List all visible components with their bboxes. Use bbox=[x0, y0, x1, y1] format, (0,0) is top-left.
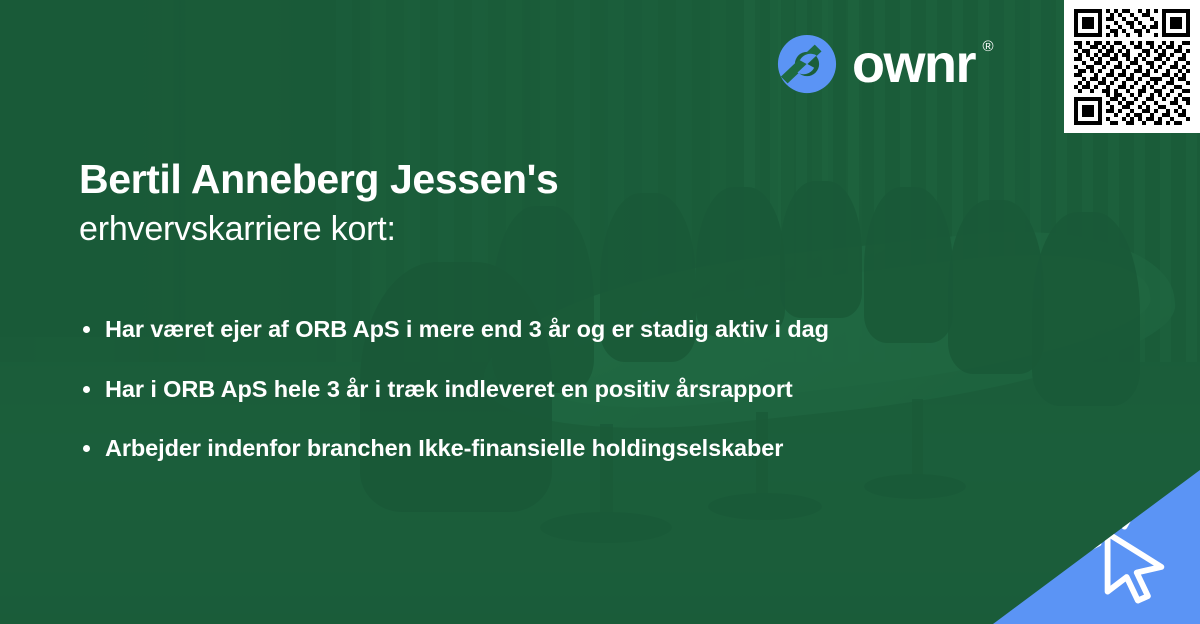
bullet-dot-icon bbox=[83, 445, 90, 452]
page-title: Bertil Anneberg Jessen's erhvervskarrier… bbox=[79, 155, 979, 251]
bullet-dot-icon bbox=[83, 326, 90, 333]
list-item-text: Har været ejer af ORB ApS i mere end 3 å… bbox=[105, 316, 829, 342]
list-item: Har været ejer af ORB ApS i mere end 3 å… bbox=[79, 312, 959, 348]
qr-code-graphic bbox=[1074, 9, 1190, 125]
career-highlights-list: Har været ejer af ORB ApS i mere end 3 å… bbox=[79, 312, 959, 467]
registered-trademark-symbol: ® bbox=[982, 39, 992, 54]
qr-code[interactable] bbox=[1064, 0, 1200, 133]
ownr-logo[interactable]: ownr ® bbox=[776, 33, 975, 95]
list-item: Arbejder indenfor branchen Ikke-finansie… bbox=[79, 431, 959, 467]
ownr-wordmark-text: ownr bbox=[852, 34, 975, 94]
bullet-dot-icon bbox=[83, 386, 90, 393]
promo-card: ownr ® Bertil Anneberg Jessen's erhvervs… bbox=[0, 0, 1200, 624]
ownr-circle-mark bbox=[776, 33, 838, 95]
list-item-text: Har i ORB ApS hele 3 år i træk indlevere… bbox=[105, 376, 793, 402]
headline-line-2: erhvervskarriere kort: bbox=[79, 209, 979, 250]
headline-line-1: Bertil Anneberg Jessen's bbox=[79, 155, 979, 203]
list-item-text: Arbejder indenfor branchen Ikke-finansie… bbox=[105, 435, 783, 461]
ownr-wordmark: ownr ® bbox=[852, 37, 975, 91]
list-item: Har i ORB ApS hele 3 år i træk indlevere… bbox=[79, 372, 959, 408]
